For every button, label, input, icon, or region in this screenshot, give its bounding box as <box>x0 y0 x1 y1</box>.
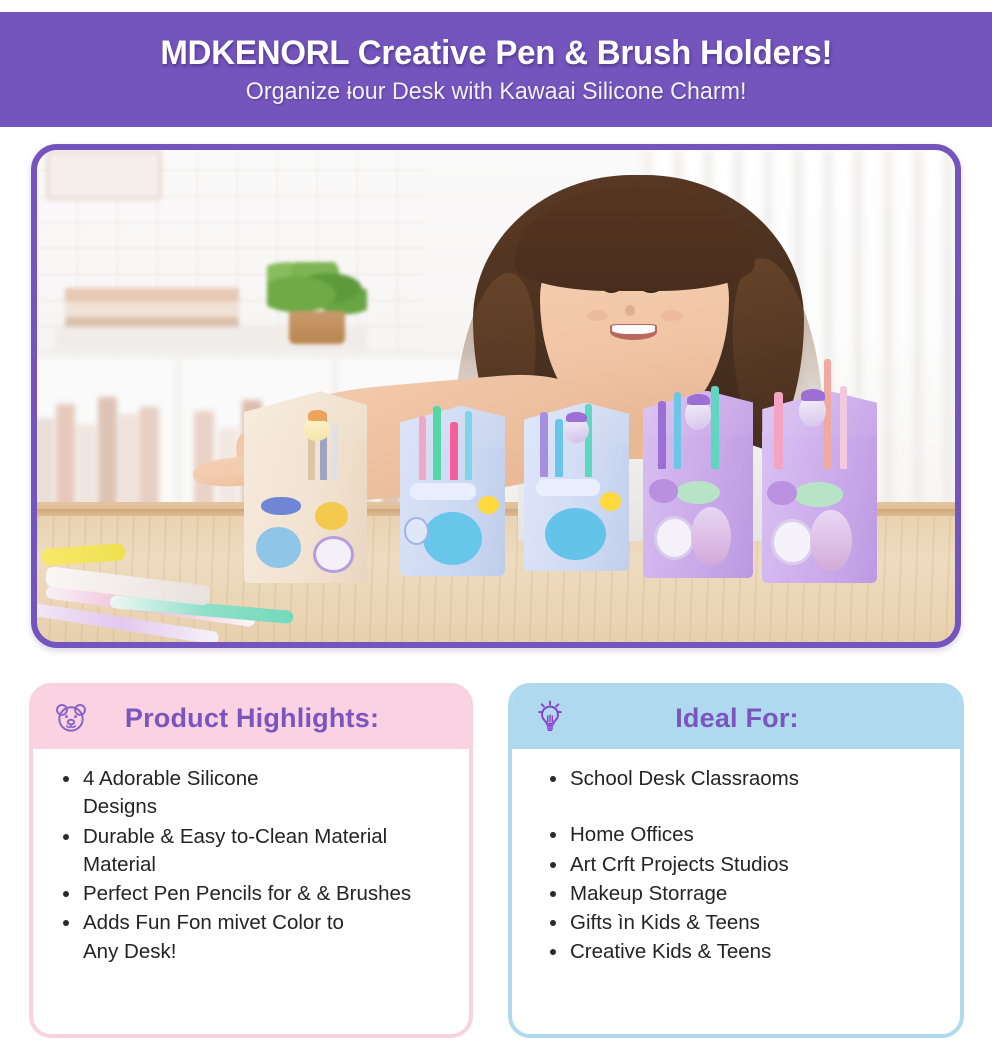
card-header-product-highlights: Product Highlights: <box>33 687 469 749</box>
pen <box>540 412 547 477</box>
pen <box>711 386 719 469</box>
card-title: Product Highlights: <box>91 703 413 734</box>
pen-holder-lightblue-1 <box>400 443 506 576</box>
list-item-line1: Makeup Storrage <box>570 882 727 905</box>
list-item-line2: Any Desk! <box>83 938 453 966</box>
page-subtitle: Organize ɨour Desk with Kawaai Silicone … <box>246 78 747 106</box>
list-item-line1: Perfect Pen Pencils for & & Brushes <box>83 882 411 905</box>
doll-hat <box>566 412 587 422</box>
list-item: Perfect Pen Pencils for & & Brushes <box>57 880 453 908</box>
list-item-line1: Home Offices <box>570 823 694 846</box>
product-highlights-list: 4 Adorable Silicone Designs Durable & Ea… <box>57 765 453 966</box>
sticker-cup <box>404 517 429 545</box>
header-banner: MDKENORL Creative Pen & Brush Holders! O… <box>0 12 992 127</box>
hero-photo-frame <box>31 144 961 648</box>
sticker-smiley <box>313 536 354 573</box>
bear-face-icon <box>51 698 91 738</box>
sticker-bear-cyan <box>423 512 482 565</box>
list-item-line1: Art Crft Projects Studios <box>570 853 789 876</box>
pen <box>450 422 457 480</box>
sticker-bear-yellow <box>315 502 347 530</box>
list-item-line1: School Desk Classraoms <box>570 767 799 790</box>
cheek-right <box>661 310 682 321</box>
list-item: Art Crft Projects Studios <box>544 851 944 879</box>
list-item-line1: Adds Fun Fon mivet Color to <box>83 911 344 934</box>
doll-hat <box>687 394 710 406</box>
list-item: Durable & Easy to-Clean Material Materia… <box>57 823 453 880</box>
pen <box>555 419 562 476</box>
list-item: Creative Kids & Teens <box>544 938 944 966</box>
list-item-line2: Material <box>83 851 453 879</box>
sticker-bow-green <box>794 482 842 506</box>
sticker-doll <box>810 510 851 571</box>
pen-holder-purple-2 <box>762 430 877 583</box>
chick-hat <box>308 410 327 420</box>
list-item: 4 Adorable Silicone Designs <box>57 765 453 822</box>
sticker-label <box>536 479 599 496</box>
card-header-ideal-for: Ideal For: <box>512 687 960 749</box>
list-item-line2: Designs <box>83 793 453 821</box>
cheek-left <box>587 310 608 321</box>
list-item-line1: Gifts ìn Kids & Teens <box>570 911 760 934</box>
card-ideal-for: Ideal For: School Desk Classraoms Home O… <box>508 683 964 1038</box>
book-stack <box>65 288 239 332</box>
plant-leaves <box>267 262 368 316</box>
sticker-smiley-yellow <box>600 492 621 510</box>
list-item: Home Offices <box>544 821 944 849</box>
mouth <box>610 324 657 340</box>
doll-hat <box>801 389 825 401</box>
card-product-highlights: Product Highlights: 4 Adorable Silicone … <box>29 683 473 1038</box>
sticker-grapes <box>649 479 678 503</box>
pen <box>332 424 338 480</box>
wall-art <box>46 150 162 200</box>
sticker-bear-cyan <box>545 508 606 560</box>
pen <box>465 411 472 480</box>
pen-holder-lightblue-2 <box>524 440 630 570</box>
lightbulb-icon <box>530 698 570 738</box>
page-title: MDKENORL Creative Pen & Brush Holders! <box>160 34 832 72</box>
pen-holder-purple-1 <box>643 430 753 578</box>
card-title: Ideal For: <box>570 703 904 734</box>
sticker-flower <box>771 519 814 565</box>
plant-pot <box>289 311 346 344</box>
pen-holder-cream <box>244 435 368 583</box>
pen <box>840 386 847 468</box>
list-item: School Desk Classraoms <box>544 765 944 793</box>
sticker-grapes <box>767 481 797 505</box>
pen <box>674 392 682 469</box>
pen <box>433 406 440 480</box>
info-cards: Product Highlights: 4 Adorable Silicone … <box>0 683 992 1045</box>
nose <box>625 305 634 316</box>
list-item-line1: 4 Adorable Silicone <box>83 767 259 790</box>
list-item-line1: Durable & Easy to-Clean Material <box>83 825 387 848</box>
card-body-ideal-for: School Desk Classraoms Home Offices Art … <box>512 749 960 978</box>
card-body-product-highlights: 4 Adorable Silicone Designs Durable & Ea… <box>33 749 469 977</box>
ideal-for-list: School Desk Classraoms Home Offices Art … <box>544 765 944 967</box>
sticker-bow-green <box>676 481 720 505</box>
pen <box>419 416 426 480</box>
list-item: Gifts ìn Kids & Teens <box>544 909 944 937</box>
sticker-label <box>410 483 475 500</box>
teeth <box>612 325 655 334</box>
potted-plant <box>267 266 368 345</box>
pen <box>658 401 666 469</box>
list-item: Makeup Storrage <box>544 880 944 908</box>
list-item: Adds Fun Fon mivet Color to Any Desk! <box>57 909 453 966</box>
pen <box>774 392 783 468</box>
sticker-bear-blue <box>256 527 301 568</box>
sticker-doll <box>691 507 731 566</box>
sticker-badge <box>261 497 301 515</box>
hero-photo <box>37 150 955 642</box>
list-item-line1: Creative Kids & Teens <box>570 940 771 963</box>
